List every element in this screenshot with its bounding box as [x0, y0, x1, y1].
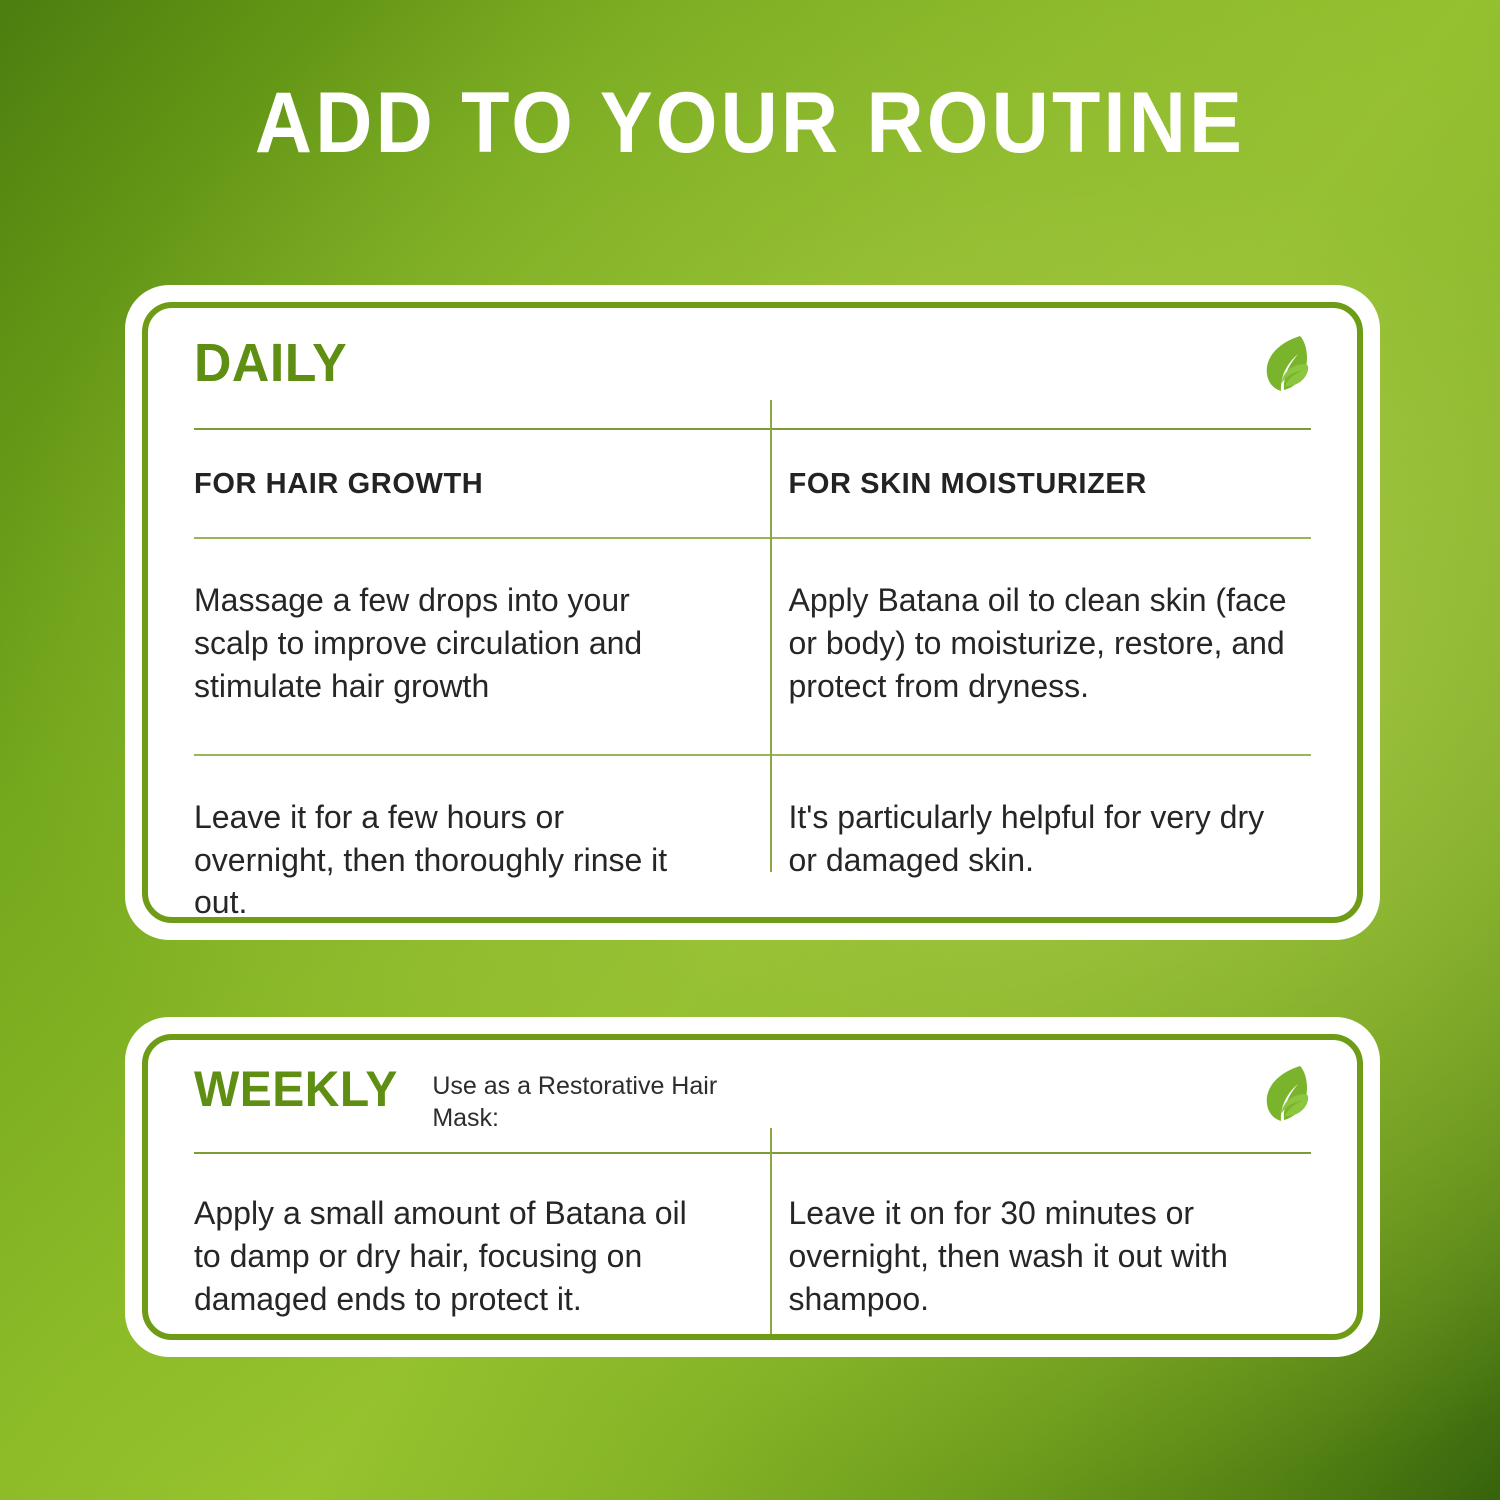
page-title: ADD TO YOUR ROUTINE [60, 78, 1440, 168]
card-daily-frame: DAILY FOR HAIR GROWTH FOR SKIN MOISTU [142, 302, 1363, 923]
cell-text: It's particularly helpful for very dry o… [789, 756, 1288, 916]
card-weekly-frame: WEEKLY Use as a Restorative Hair Mask: A… [142, 1034, 1363, 1340]
card-daily-header: DAILY [194, 308, 1311, 428]
card-daily-header-row: FOR HAIR GROWTH FOR SKIN MOISTURIZER [194, 430, 1311, 537]
cell-skin-2: It's particularly helpful for very dry o… [753, 756, 1312, 923]
card-weekly-kicker: WEEKLY [194, 1064, 398, 1114]
column-header-skin-moisturizer: FOR SKIN MOISTURIZER [789, 430, 1288, 537]
card-daily-kicker: DAILY [194, 336, 347, 390]
column-left-header: FOR HAIR GROWTH [194, 430, 753, 537]
cell-weekly-right: Leave it on for 30 minutes or overnight,… [753, 1154, 1312, 1340]
card-daily-body: DAILY FOR HAIR GROWTH FOR SKIN MOISTU [148, 308, 1357, 917]
card-weekly-subtitle: Use as a Restorative Hair Mask: [432, 1070, 762, 1134]
cell-text: Massage a few drops into your scalp to i… [194, 539, 703, 754]
card-weekly-header: WEEKLY Use as a Restorative Hair Mask: [194, 1040, 1311, 1152]
leaf-icon [1259, 1064, 1311, 1133]
poster-canvas: ADD TO YOUR ROUTINE DAILY FOR HA [0, 0, 1500, 1500]
leaf-icon [1259, 334, 1311, 403]
table-row: Apply a small amount of Batana oil to da… [194, 1154, 1311, 1340]
cell-text: Leave it for a few hours or overnight, t… [194, 756, 703, 923]
cell-weekly-left: Apply a small amount of Batana oil to da… [194, 1154, 753, 1340]
cell-text: Leave it on for 30 minutes or overnight,… [789, 1154, 1288, 1340]
cell-hair-growth-2: Leave it for a few hours or overnight, t… [194, 756, 753, 923]
card-daily: DAILY FOR HAIR GROWTH FOR SKIN MOISTU [125, 285, 1380, 940]
table-row: Leave it for a few hours or overnight, t… [194, 756, 1311, 923]
table-row: Massage a few drops into your scalp to i… [194, 539, 1311, 754]
cell-skin-1: Apply Batana oil to clean skin (face or … [753, 539, 1312, 754]
card-weekly: WEEKLY Use as a Restorative Hair Mask: A… [125, 1017, 1380, 1357]
cell-text: Apply Batana oil to clean skin (face or … [789, 539, 1288, 754]
column-right-header: FOR SKIN MOISTURIZER [753, 430, 1312, 537]
column-header-hair-growth: FOR HAIR GROWTH [194, 430, 703, 537]
cell-hair-growth-1: Massage a few drops into your scalp to i… [194, 539, 753, 754]
cell-text: Apply a small amount of Batana oil to da… [194, 1154, 703, 1340]
card-weekly-body: WEEKLY Use as a Restorative Hair Mask: A… [148, 1040, 1357, 1334]
